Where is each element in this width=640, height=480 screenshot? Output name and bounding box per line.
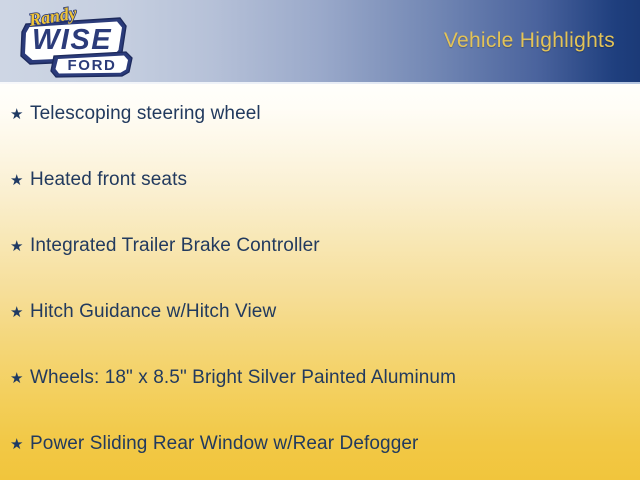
list-item: ★ Telescoping steering wheel [10,102,261,126]
star-icon: ★ [10,105,30,125]
list-item-label: Telescoping steering wheel [30,102,261,126]
ford-wordmark: FORD [68,57,117,74]
vehicle-highlights-slide: WISE Randy FORD Vehicle Highlights ★ Tel… [0,0,640,480]
list-item-label: Wheels: 18" x 8.5" Bright Silver Painted… [30,366,456,390]
star-icon: ★ [10,303,30,323]
star-icon: ★ [10,171,30,191]
star-icon: ★ [10,369,30,389]
list-item: ★ Hitch Guidance w/Hitch View [10,300,276,324]
list-item: ★ Power Sliding Rear Window w/Rear Defog… [10,432,419,456]
wise-wordmark: WISE [32,24,112,56]
vehicle-highlights-list: ★ Telescoping steering wheel ★ Heated fr… [0,84,640,480]
list-item: ★ Wheels: 18" x 8.5" Bright Silver Paint… [10,366,456,390]
star-icon: ★ [10,237,30,257]
list-item: ★ Heated front seats [10,168,187,192]
list-item-label: Integrated Trailer Brake Controller [30,234,320,258]
page-title: Vehicle Highlights [444,28,615,54]
list-item-label: Heated front seats [30,168,187,192]
randy-wise-ford-logo: WISE Randy FORD [8,6,138,80]
list-item-label: Hitch Guidance w/Hitch View [30,300,276,324]
list-item-label: Power Sliding Rear Window w/Rear Defogge… [30,432,419,456]
star-icon: ★ [10,435,30,455]
list-item: ★ Integrated Trailer Brake Controller [10,234,320,258]
